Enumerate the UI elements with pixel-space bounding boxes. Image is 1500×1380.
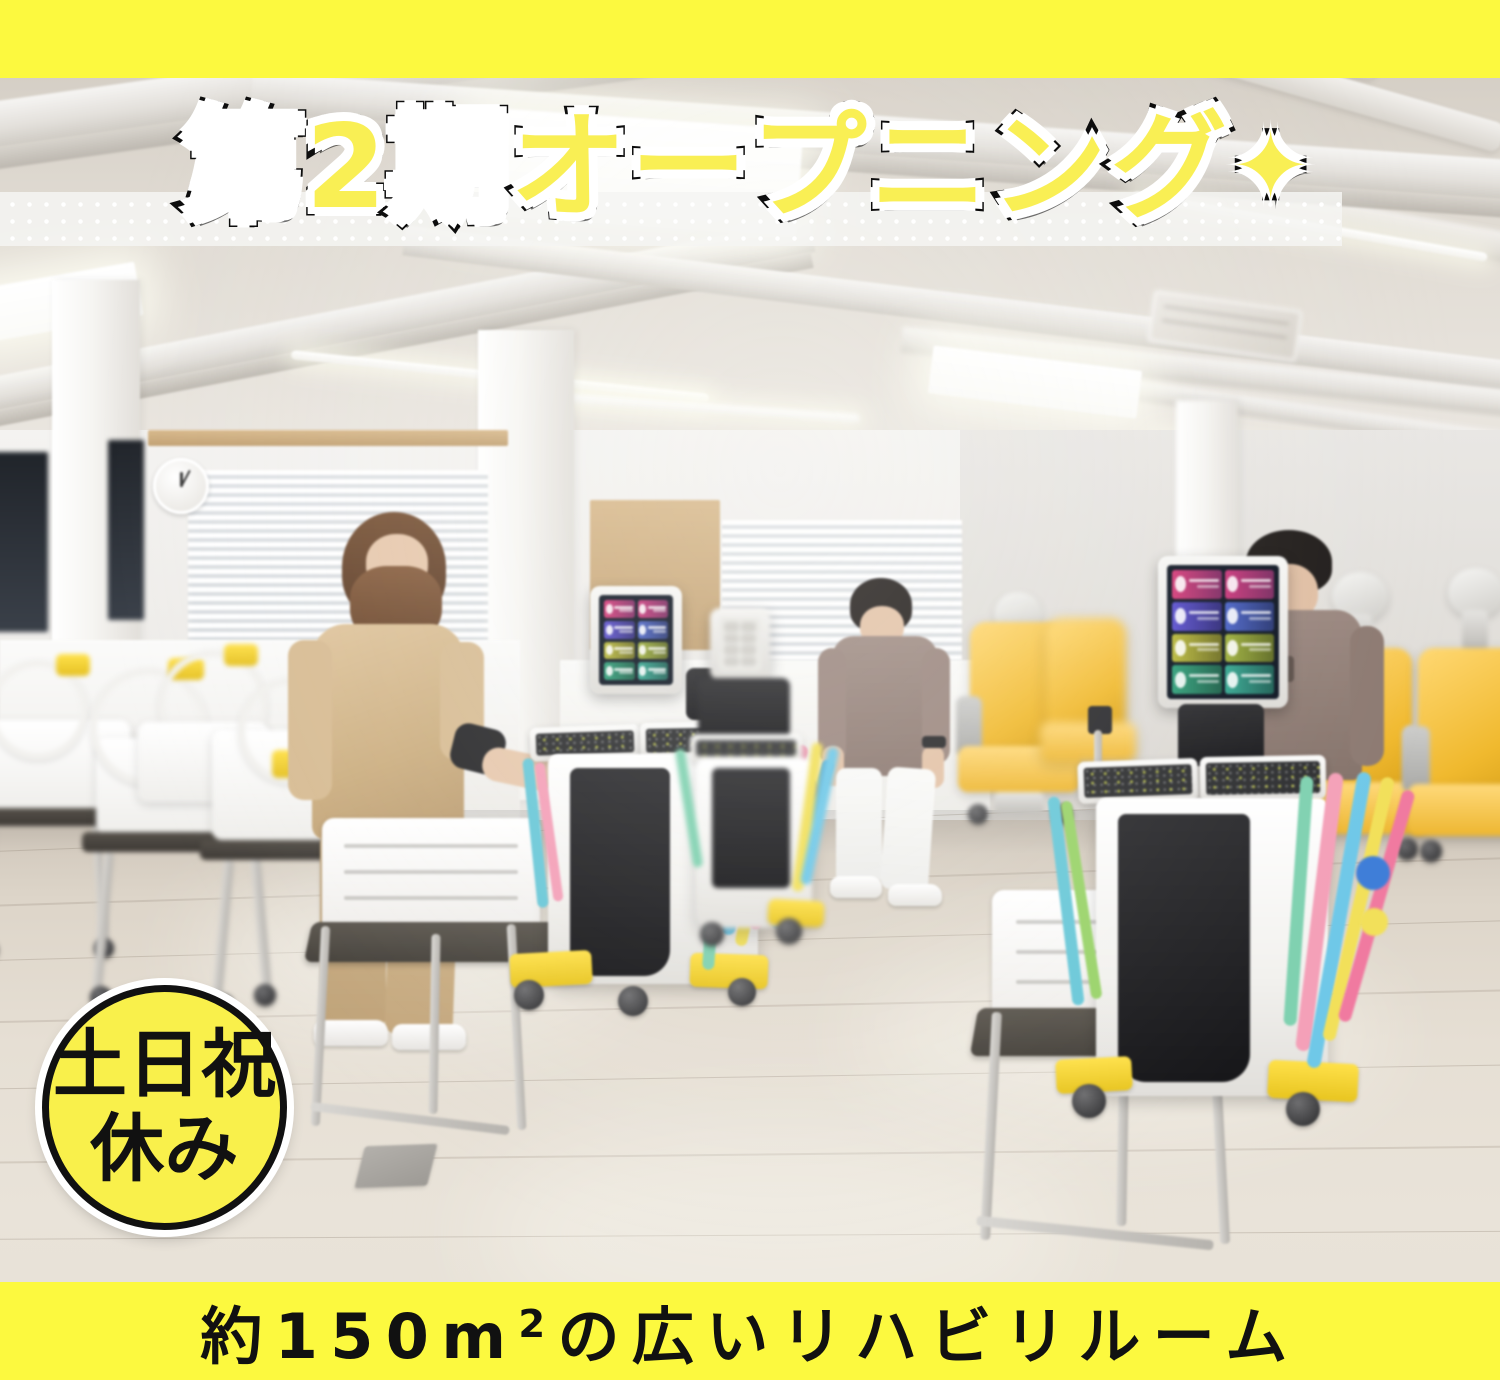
rehab-cart-right-screen[interactable] xyxy=(1158,556,1288,708)
title-char-3: 期 xyxy=(390,105,510,231)
bottom-caption-suffix: の広いリハビリルーム xyxy=(558,1300,1300,1373)
title-char-1: 第 xyxy=(185,105,305,231)
floor-outlet-plate xyxy=(354,1144,437,1188)
bottom-yellow-band: 約150m2の広いリハビリルーム xyxy=(0,1282,1500,1380)
sparkle-star-icon: ✦ xyxy=(1231,104,1315,230)
status-badge-holiday: 土日祝 休み xyxy=(42,985,287,1230)
title-char-9: グ xyxy=(1111,105,1231,231)
poster-root: 第2期オープニング✦ 土日祝 休み 約150m2の広いリハビリルーム xyxy=(0,0,1500,1380)
screen-tile-grid-left xyxy=(599,595,673,685)
page-title: 第2期オープニング✦ xyxy=(0,104,1500,231)
title-char-2: 2 xyxy=(306,105,391,231)
rehab-cart-left-screen[interactable] xyxy=(590,586,682,694)
badge-line-2: 休み xyxy=(90,1112,239,1187)
badge-line-1: 土日祝 xyxy=(53,1028,276,1103)
bottom-caption: 約150m2の広いリハビリルーム xyxy=(200,1286,1299,1376)
bottom-caption-prefix: 約150 xyxy=(200,1300,441,1373)
window-dark-left xyxy=(0,452,48,632)
title-char-8: ン xyxy=(991,105,1111,231)
wall-clock xyxy=(153,458,209,514)
unit-square-meter-icon: m2 xyxy=(441,1300,557,1373)
top-yellow-band xyxy=(0,0,1500,78)
title-char-7: ニ xyxy=(871,105,991,231)
window-dark-left2 xyxy=(108,440,144,620)
screen-tile-grid-right xyxy=(1167,565,1279,699)
title-char-4: オ xyxy=(510,105,630,231)
title-char-5: ー xyxy=(630,105,750,231)
title-char-6: プ xyxy=(751,105,871,231)
